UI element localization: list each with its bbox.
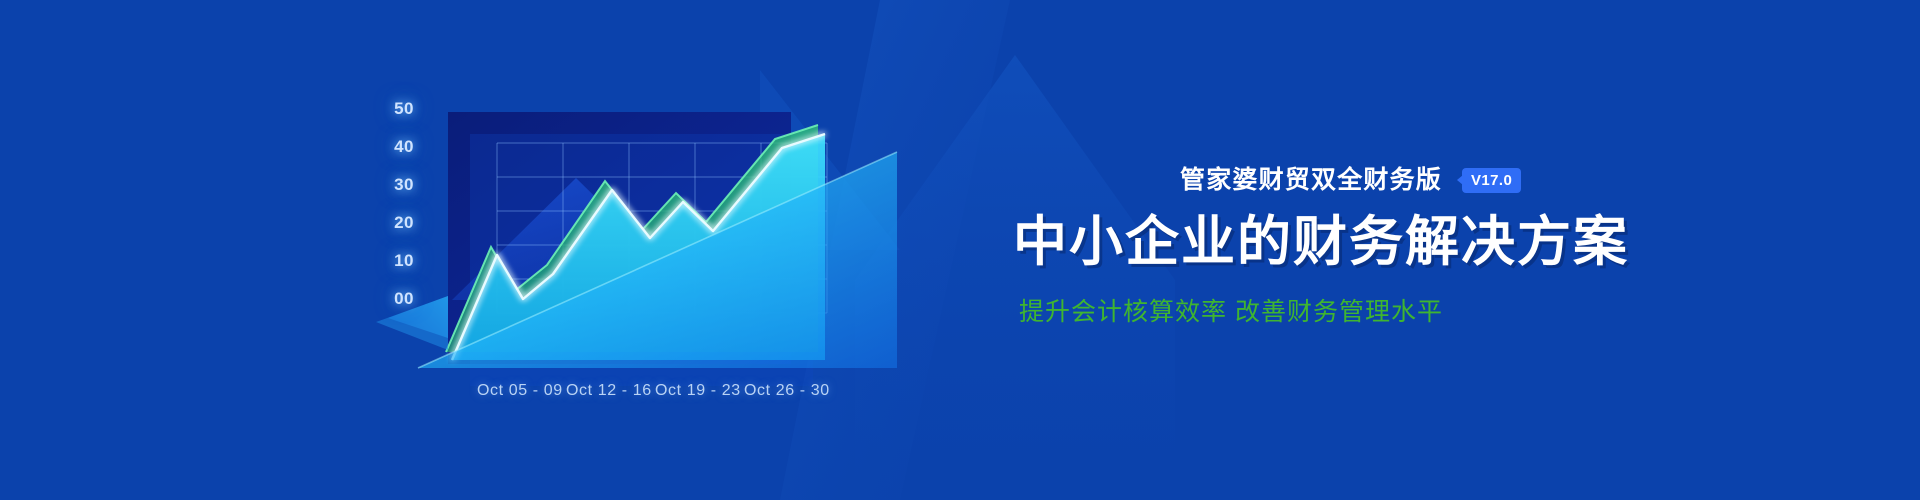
overlay-triangle [418,152,897,368]
x-axis-label-4: Oct 26 - 30 [744,382,830,400]
x-axis-label-1: Oct 05 - 09 [477,382,563,400]
y-axis-label-00: 00 [380,289,414,309]
page-title: 中小企业的财务解决方案 [1013,213,1629,272]
brand-name: 管家婆财贸双全财务版 [1180,168,1442,193]
series-secondary-area [446,125,818,352]
brand-row: 管家婆财贸双全财务版 V17.0 [1180,165,1521,195]
chart-svg [0,0,1000,500]
y-axis-label-20: 20 [380,213,414,233]
chart-gridlines [497,143,827,313]
y-axis-label-50: 50 [380,99,414,119]
series-primary-line [452,134,825,360]
y-axis-label-30: 30 [380,175,414,195]
series-primary-area [452,134,825,360]
x-axis-label-3: Oct 19 - 23 [655,382,741,400]
promo-copy: 管家婆财贸双全财务版 V17.0 中小企业的财务解决方案 提升会计核算效率 改善… [1013,0,1773,500]
promo-banner: 50 40 30 20 10 00 Oct 05 - 09 Oct 12 - 1… [0,0,1920,500]
x-axis-label-2: Oct 12 - 16 [566,382,652,400]
version-badge: V17.0 [1462,168,1521,193]
series-secondary-line [446,125,818,352]
page-subtitle: 提升会计核算效率 改善财务管理水平 [1019,297,1443,327]
line-chart-graphic: 50 40 30 20 10 00 Oct 05 - 09 Oct 12 - 1… [0,0,1000,500]
y-axis-label-40: 40 [380,137,414,157]
y-axis-label-10: 10 [380,251,414,271]
